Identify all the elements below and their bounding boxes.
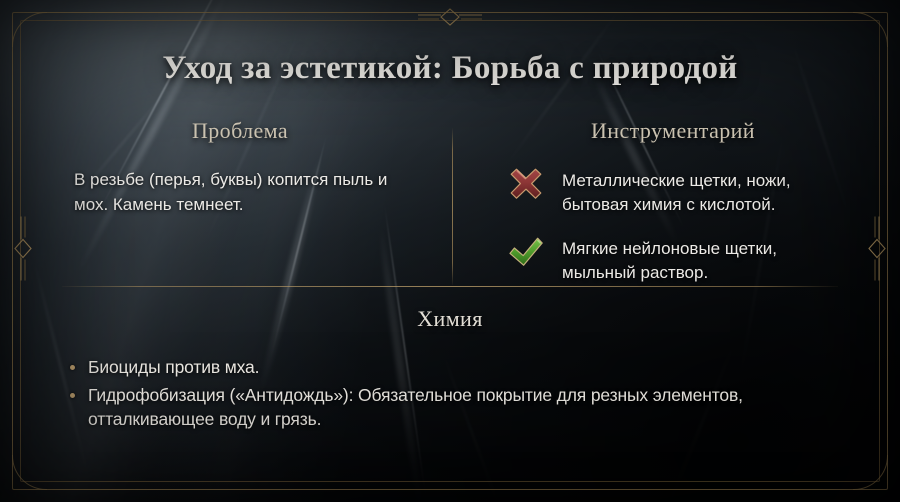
problem-column: Проблема В резьбе (перья, буквы) копится… xyxy=(62,118,452,286)
bullet-dot-icon xyxy=(70,365,75,370)
chemistry-bullet-label: Биоциды против мха. xyxy=(88,357,259,377)
cross-mark-icon xyxy=(508,166,544,202)
chemistry-bullet-label: Гидрофобизация («Антидождь»): Обязательн… xyxy=(88,385,743,429)
tools-column: Инструментарий xyxy=(452,118,838,286)
chemistry-section: Химия Биоциды против мха. Гидрофобизация… xyxy=(0,287,900,435)
tools-heading: Инструментарий xyxy=(508,118,838,144)
list-item: Металлические щетки, ножи, бытовая химия… xyxy=(508,168,838,217)
bullet-dot-icon xyxy=(70,393,75,398)
problem-body-text: В резьбе (перья, буквы) копится пыль и м… xyxy=(62,168,418,218)
chemistry-bullet-list: Биоциды против мха. Гидрофобизация («Ант… xyxy=(62,356,838,431)
problem-heading: Проблема xyxy=(62,118,418,144)
tool-item-label: Мягкие нейлоновые щетки, мыльный раствор… xyxy=(562,236,838,285)
list-item: Гидрофобизация («Антидождь»): Обязательн… xyxy=(62,384,838,432)
two-column-section: Проблема В резьбе (перья, буквы) копится… xyxy=(0,118,900,286)
check-mark-icon xyxy=(508,234,544,270)
page-title: Уход за эстетикой: Борьба с природой xyxy=(0,50,900,87)
list-item: Мягкие нейлоновые щетки, мыльный раствор… xyxy=(508,236,838,285)
chemistry-heading: Химия xyxy=(62,306,838,332)
list-item: Биоциды против мха. xyxy=(62,356,838,380)
slide-content: Уход за эстетикой: Борьба с природой Про… xyxy=(0,0,900,502)
tool-item-label: Металлические щетки, ножи, бытовая химия… xyxy=(562,168,838,217)
slide-root: Уход за эстетикой: Борьба с природой Про… xyxy=(0,0,900,502)
tools-list: Металлические щетки, ножи, бытовая химия… xyxy=(508,168,838,286)
